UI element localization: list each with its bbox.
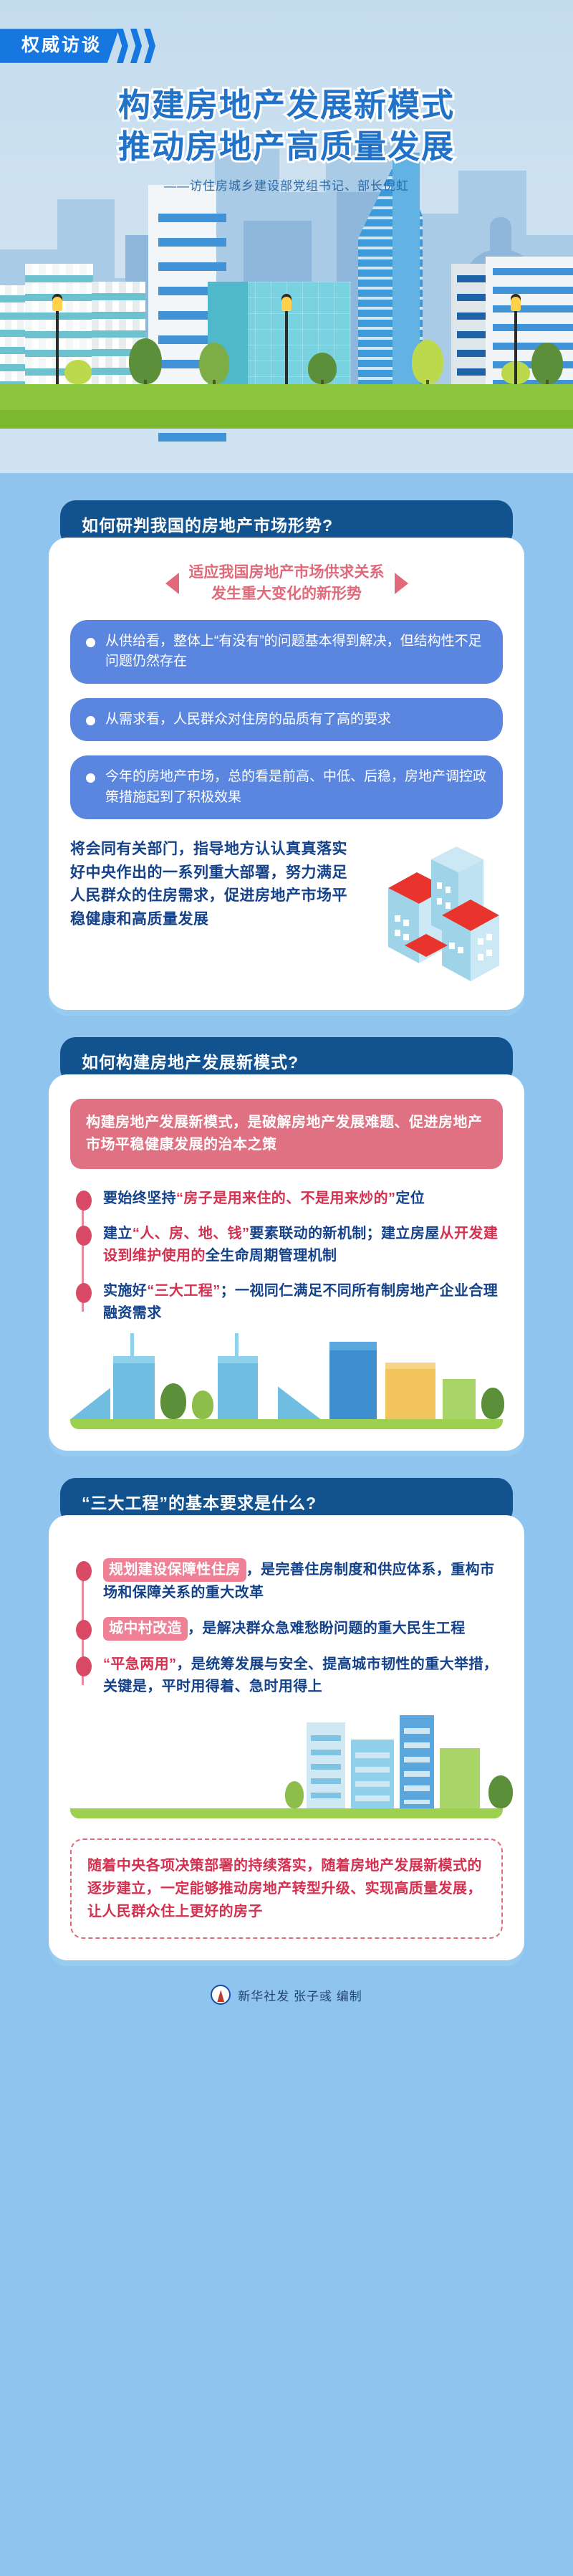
answer-card-2: 构建房地产发展新模式，是破解房地产发展难题、促进房地产市场平稳健康发展的治本之策…: [49, 1074, 524, 1451]
credit-text: 新华社发 张子彧 编制: [238, 1986, 362, 2004]
city-strip-illustration-3: [70, 1711, 503, 1818]
item-suffix: 要素联动的新机制；建立房屋: [249, 1226, 439, 1241]
headline-banner-1: 适应我国房地产市场供求关系发生重大变化的新形势: [70, 562, 503, 606]
title-line-2: 推动房地产高质量发展: [0, 126, 573, 168]
closing-paragraph-block-1: 将会同有关部门，指导地方认认真真落实好中央作出的一系列重大部署，努力满足人民群众…: [70, 838, 503, 988]
item-tag: 城中村改造: [103, 1617, 188, 1641]
item-highlight: “三大工程”: [147, 1283, 220, 1299]
badge-label: 权威访谈: [0, 29, 119, 63]
page-subtitle: ——访住房城乡建设部党组书记、部长倪虹: [0, 176, 573, 194]
hero-banner: 权威访谈 构建房地产发展新模式 推动房地产高质量发展 ——访住房城乡建设部党组书…: [0, 0, 573, 473]
bullet-dot-icon: [86, 773, 95, 783]
xinhua-logo-icon: [211, 1985, 231, 2005]
bullet-dot-icon: [86, 638, 95, 647]
item-suffix-2: 全生命周期管理机制: [206, 1248, 337, 1264]
triangle-left-icon: [165, 573, 179, 594]
list-item: 要始终坚持“房子是用来住的、不是用来炒的”定位: [103, 1188, 503, 1210]
authoritative-interview-badge: 权威访谈: [0, 29, 155, 63]
chevron-right-icon: [115, 29, 155, 63]
list-item: “平急两用”，是统筹发展与安全、提高城市韧性的重大举措，关键是，平时用得着、急时…: [103, 1654, 503, 1698]
item-suffix: 定位: [395, 1191, 425, 1206]
closing-paragraph-1: 将会同有关部门，指导地方认认真真落实好中央作出的一系列重大部署，努力满足人民群众…: [70, 838, 359, 931]
isometric-buildings-icon: [363, 838, 503, 988]
bullet-pill: 从需求看，人民群众对住房的品质有了高的要求: [70, 698, 503, 742]
timeline-list-2: 要始终坚持“房子是用来住的、不是用来炒的”定位 建立“人、房、地、钱”要素联动的…: [70, 1188, 503, 1325]
item-tag: 规划建设保障性住房: [103, 1558, 246, 1582]
answer-card-3: 规划建设保障性住房，是完善住房制度和供应体系，重构市场和保障关系的重大改革 城中…: [49, 1515, 524, 1960]
bullet-text: 今年的房地产市场，总的看是前高、中低、后稳，房地产调控政策措施起到了积极效果: [105, 767, 487, 808]
bullet-text: 从供给看，整体上“有没有”的问题基本得到解决，但结构性不足问题仍然存在: [105, 631, 487, 672]
list-item: 建立“人、房、地、钱”要素联动的新机制；建立房屋从开发建设到维护使用的全生命周期…: [103, 1223, 503, 1267]
title-line-1: 构建房地产发展新模式: [0, 85, 573, 126]
item-highlight: “人、房、地、钱”: [133, 1226, 250, 1241]
item-text: ，是解决群众急难愁盼问题的重大民生工程: [188, 1621, 466, 1636]
bullet-dot-icon: [86, 716, 95, 725]
statement-box-2: 构建房地产发展新模式，是破解房地产发展难题、促进房地产市场平稳健康发展的治本之策: [70, 1099, 503, 1169]
city-strip-illustration-2: [70, 1337, 503, 1429]
item-prefix: 建立: [103, 1226, 133, 1241]
ground-strip: [0, 384, 573, 429]
item-prefix: 实施好: [103, 1283, 147, 1299]
footer-credit: 新华社发 张子彧 编制: [0, 1960, 573, 2036]
closing-note-3: 随着中央各项决策部署的持续落实，随着房地产发展新模式的逐步建立，一定能够推动房地…: [70, 1838, 503, 1939]
content-area: 如何研判我国的房地产市场形势? 适应我国房地产市场供求关系发生重大变化的新形势 …: [0, 500, 573, 2043]
timeline-list-3: 规划建设保障性住房，是完善住房制度和供应体系，重构市场和保障关系的重大改革 城中…: [70, 1558, 503, 1698]
item-highlight: “房子是用来住的、不是用来炒的”: [176, 1191, 395, 1206]
page-title: 构建房地产发展新模式 推动房地产高质量发展 ——访住房城乡建设部党组书记、部长倪…: [0, 85, 573, 194]
bullet-pill: 今年的房地产市场，总的看是前高、中低、后稳，房地产调控政策措施起到了积极效果: [70, 755, 503, 819]
item-tag-quoted: “平急两用”: [103, 1656, 176, 1672]
triangle-right-icon: [395, 573, 408, 594]
list-item: 城中村改造，是解决群众急难愁盼问题的重大民生工程: [103, 1617, 503, 1641]
bullet-text: 从需求看，人民群众对住房的品质有了高的要求: [105, 710, 391, 730]
bullet-pill: 从供给看，整体上“有没有”的问题基本得到解决，但结构性不足问题仍然存在: [70, 620, 503, 684]
list-item: 规划建设保障性住房，是完善住房制度和供应体系，重构市场和保障关系的重大改革: [103, 1558, 503, 1604]
headline-text-1: 适应我国房地产市场供求关系发生重大变化的新形势: [189, 562, 385, 606]
item-prefix: 要始终坚持: [103, 1191, 176, 1206]
list-item: 实施好“三大工程”；一视同仁满足不同所有制房地产企业合理融资需求: [103, 1280, 503, 1325]
answer-card-1: 适应我国房地产市场供求关系发生重大变化的新形势 从供给看，整体上“有没有”的问题…: [49, 538, 524, 1010]
